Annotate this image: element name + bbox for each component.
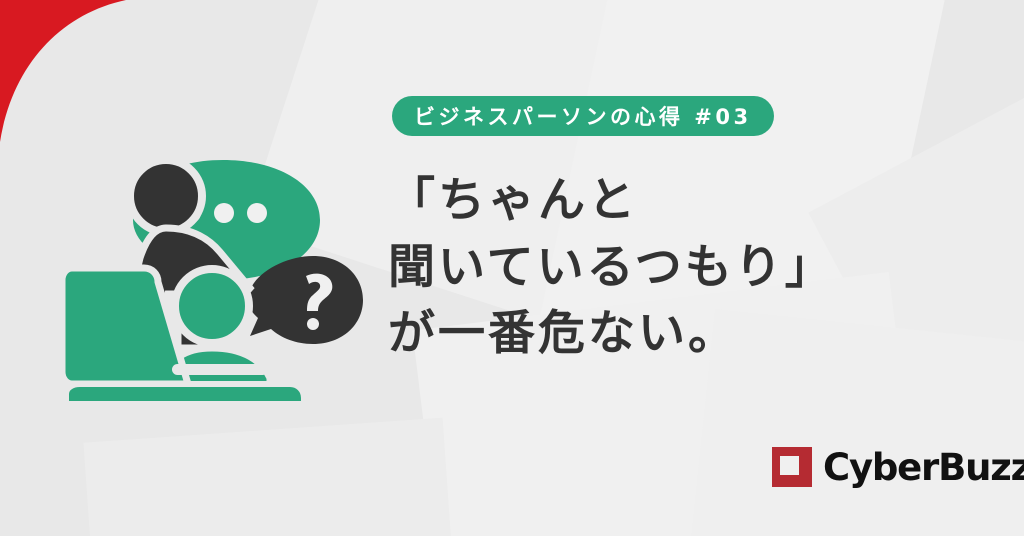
cyberbuzz-square-mark-icon [772,447,812,487]
red-corner-swoosh [0,0,126,142]
headline: 「ちゃんと 聞いているつもり」 が一番危ない。 [388,168,835,368]
headline-line-2: 聞いているつもり」 [388,235,835,302]
headline-line-1: 「ちゃんと [388,168,835,235]
series-badge-label: ビジネスパーソンの心得 #03 [414,101,752,131]
series-badge: ビジネスパーソンの心得 #03 [392,96,774,136]
bg-polygon-6 [83,418,456,536]
listening-meeting-illustration [58,148,378,412]
poster-canvas: ビジネスパーソンの心得 #03 「ちゃんと 聞いているつもり」 が一番危ない。 … [0,0,1024,536]
cyberbuzz-logo-text: CyberBuzz [823,449,1024,486]
headline-line-3: が一番危ない。 [388,301,835,368]
cyberbuzz-logo: CyberBuzz [772,447,1024,487]
